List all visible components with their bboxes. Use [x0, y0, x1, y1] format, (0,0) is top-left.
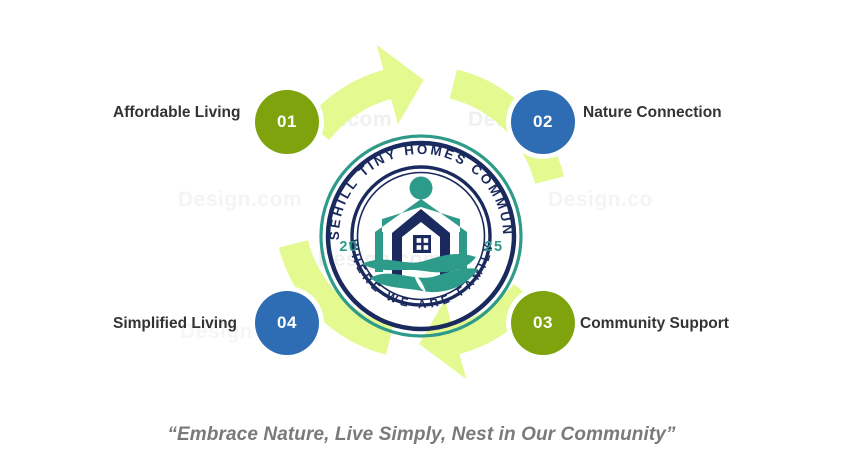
- logo-window-pane: [417, 238, 422, 243]
- logo-sun-icon: [410, 177, 433, 200]
- infographic-canvas: ign.com Design.c Design.com Design.com D…: [0, 0, 843, 463]
- cycle-node-number: 04: [277, 313, 297, 333]
- logo-year-left: 20: [339, 239, 358, 255]
- cycle-label-01: Affordable Living: [113, 104, 240, 122]
- cycle-node-01[interactable]: 01: [255, 90, 319, 154]
- logo-window-pane: [424, 245, 429, 250]
- cycle-label-04: Simplified Living: [113, 315, 237, 333]
- cycle-node-number: 03: [533, 313, 553, 333]
- logo-window-pane: [417, 245, 422, 250]
- cycle-label-02: Nature Connection: [583, 104, 722, 122]
- cycle-node-number: 01: [277, 112, 297, 132]
- logo-window-pane: [424, 238, 429, 243]
- rosehill-tiny-homes-community-logo: ROSEHILL TINY HOMES COMMUNITY WHERE WE A…: [318, 133, 524, 339]
- cycle-node-04[interactable]: 04: [255, 291, 319, 355]
- logo-year-right: 25: [484, 239, 503, 255]
- cycle-label-03: Community Support: [580, 315, 729, 333]
- logo-window-icon: [413, 235, 431, 253]
- arrow-top: [306, 45, 424, 140]
- tagline-text: “Embrace Nature, Live Simply, Nest in Ou…: [0, 424, 843, 446]
- cycle-node-number: 02: [533, 112, 553, 132]
